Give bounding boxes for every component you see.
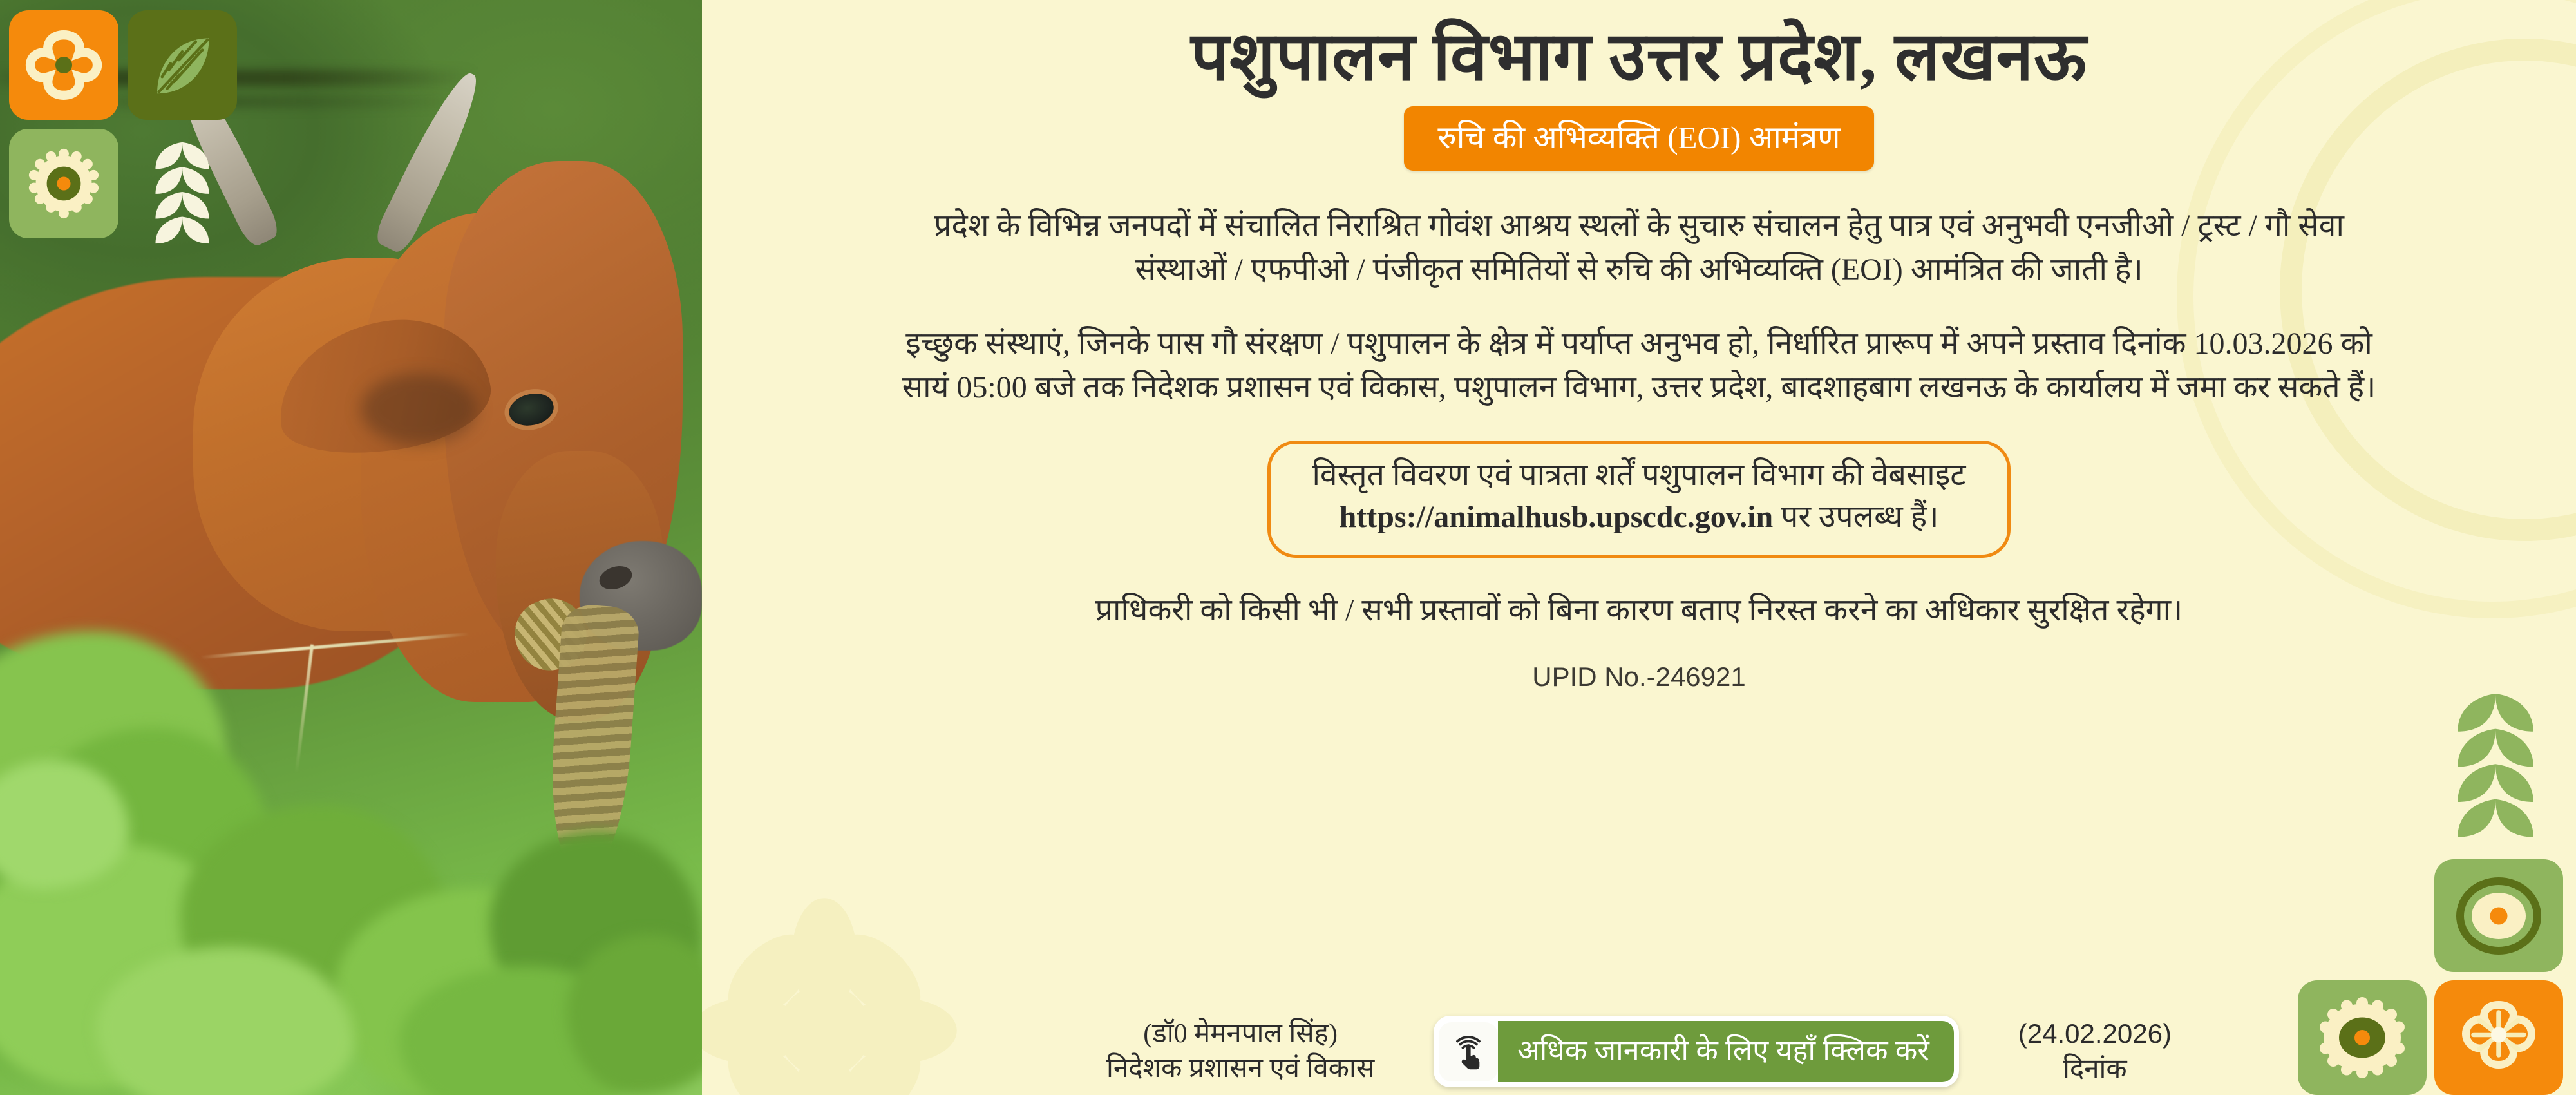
leaf-icon: [140, 23, 224, 107]
page-title: पशुपालन विभाग उत्तर प्रदेश, लखनऊ: [1191, 22, 2087, 92]
tile-sunflower: [9, 129, 118, 238]
website-box-line-1: विस्तृत विवरण एवं पात्रता शर्तें पशुपालन…: [1312, 454, 1965, 496]
more-info-button[interactable]: अधिक जानकारी के लिए यहाँ क्लिक करें: [1434, 1016, 1959, 1087]
date-block: (24.02.2026) दिनांक: [2018, 1016, 2172, 1087]
paragraph-disclaimer: प्राधिकरी को किसी भी / सभी प्रस्तावों को…: [889, 589, 2389, 633]
content-panel: पशुपालन विभाग उत्तर प्रदेश, लखनऊ रुचि की…: [702, 0, 2576, 1095]
wheat-sprig-icon: [2428, 678, 2563, 845]
signature-block: (डॉ0 मेमनपाल सिंह) निदेशक प्रशासन एवं वि…: [1106, 1017, 1374, 1087]
tile-sunflower-br: [2298, 980, 2427, 1095]
straw-strand: [200, 633, 470, 660]
tile-clover-flower: [9, 10, 118, 120]
paragraph-invitation: प्रदेश के विभिन्न जनपदों में संचालित निर…: [889, 204, 2389, 292]
website-box-line-2: https://animalhusb.upscdc.gov.in पर उपलब…: [1312, 496, 1965, 538]
sunflower-icon: [21, 141, 106, 226]
website-url[interactable]: https://animalhusb.upscdc.gov.in: [1340, 500, 1774, 534]
website-info-box[interactable]: विस्तृत विवरण एवं पात्रता शर्तें पशुपालन…: [1267, 441, 2010, 558]
tap-gesture-icon: [1439, 1022, 1498, 1081]
wheat-sprig-icon: [134, 133, 231, 247]
date-label: दिनांक: [2018, 1052, 2172, 1087]
logo-cluster-bottom-right: [2299, 678, 2570, 1090]
clover-flower-icon: [22, 23, 106, 107]
content-stack: पशुपालन विभाग उत्तर प्रदेश, लखनऊ रुचि की…: [702, 0, 2576, 1095]
more-info-button-label: अधिक जानकारी के लिए यहाँ क्लिक करें: [1498, 1021, 1954, 1082]
tile-star-flower: [2434, 980, 2563, 1095]
eoi-poster: पशुपालन विभाग उत्तर प्रदेश, लखनऊ रुचि की…: [0, 0, 2576, 1095]
star-flower-icon: [2450, 995, 2547, 1081]
tile-wheat-sprig: [128, 129, 237, 251]
paragraph-submission: इच्छुक संस्थाएं, जिनके पास गौ संरक्षण / …: [889, 322, 2389, 410]
tile-leaf: [128, 10, 237, 120]
decor-wheat-sprig: [2428, 678, 2563, 845]
upid-number: UPID No.-246921: [1532, 662, 1746, 692]
signature-name: (डॉ0 मेमनपाल सिंह): [1106, 1017, 1374, 1052]
signature-designation: निदेशक प्रशासन एवं विकास: [1106, 1052, 1374, 1087]
logo-cluster-top-left: [9, 10, 234, 236]
website-url-suffix: पर उपलब्ध हैं।: [1773, 500, 1938, 534]
eoi-badge: रुचि की अभिव्यक्ति (EOI) आमंत्रण: [1404, 106, 1873, 171]
tile-concentric-rings: [2434, 859, 2563, 972]
date-value: (24.02.2026): [2018, 1016, 2172, 1052]
concentric-rings-icon: [2450, 873, 2547, 958]
footer-row: (डॉ0 मेमनपाल सिंह) निदेशक प्रशासन एवं वि…: [702, 1016, 2576, 1087]
sunflower-icon: [2314, 995, 2410, 1081]
straw-strand-secondary: [295, 644, 314, 772]
